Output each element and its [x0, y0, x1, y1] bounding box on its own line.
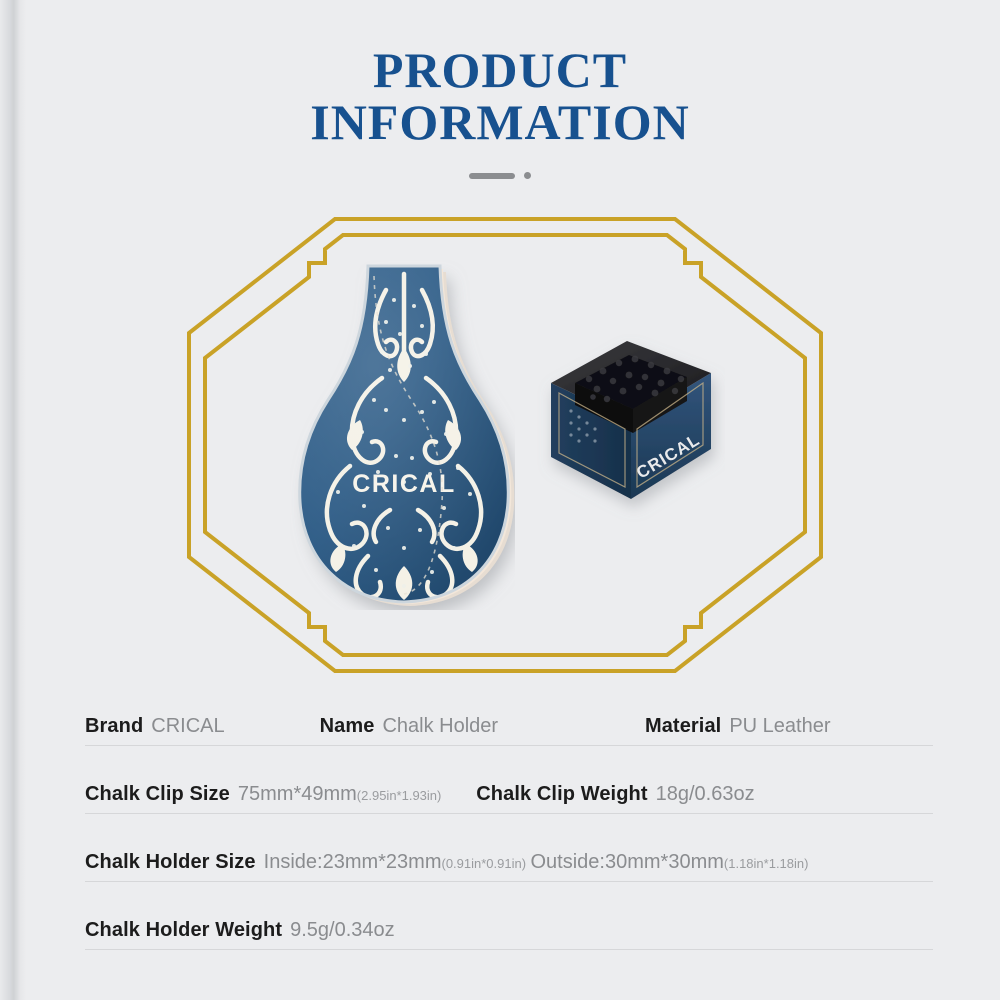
- page-title-line-2: INFORMATION: [0, 96, 1000, 148]
- spec-label: Chalk Holder Weight: [85, 919, 282, 941]
- product-chalk-holder-box: CRICAL: [535, 325, 725, 525]
- row-divider: [85, 949, 933, 950]
- table-row: Chalk Holder Weight9.5g/0.34oz: [85, 904, 933, 972]
- spec-label: Brand: [85, 715, 143, 737]
- spec-value: 9.5g/0.34oz: [290, 919, 395, 941]
- dot-icon: [524, 172, 531, 179]
- spec-value: PU Leather: [729, 715, 830, 737]
- product-spec-table: BrandCRICAL NameChalk Holder MaterialPU …: [85, 700, 933, 972]
- spec-label: Material: [645, 715, 721, 737]
- product-images: CRICAL: [185, 215, 825, 675]
- spec-value-outside-imperial: (1.18in*1.18in): [724, 856, 809, 871]
- spec-label: Chalk Clip Size: [85, 783, 230, 805]
- row-divider: [85, 745, 933, 746]
- pagination-dash-dot-icon: [0, 172, 1000, 179]
- product-chalk-clip: CRICAL: [290, 260, 515, 610]
- spec-value-inside-imperial: (0.91in*0.91in): [441, 856, 526, 871]
- spec-value: CRICAL: [151, 715, 224, 737]
- spec-cell-chalk-clip-size: Chalk Clip Size75mm*49mm(2.95in*1.93in): [85, 783, 441, 806]
- row-divider: [85, 813, 933, 814]
- row-divider: [85, 881, 933, 882]
- product-showcase: CRICAL: [185, 215, 825, 675]
- table-row: BrandCRICAL NameChalk Holder MaterialPU …: [85, 700, 933, 768]
- dash-icon: [469, 173, 515, 179]
- spec-cell-chalk-clip-weight: Chalk Clip Weight18g/0.63oz: [476, 783, 754, 806]
- page-title: PRODUCT INFORMATION: [0, 44, 1000, 148]
- spec-value: 75mm*49mm: [238, 783, 357, 805]
- spec-cell-name: NameChalk Holder: [320, 715, 498, 738]
- table-row: Chalk Clip Size75mm*49mm(2.95in*1.93in) …: [85, 768, 933, 836]
- spec-label: Chalk Holder Size: [85, 851, 256, 873]
- spec-value: 18g/0.63oz: [656, 783, 755, 805]
- spec-cell-chalk-holder-size-outside: Outside:30mm*30mm(1.18in*1.18in): [531, 851, 809, 874]
- spec-cell-chalk-holder-weight: Chalk Holder Weight9.5g/0.34oz: [85, 919, 395, 942]
- product-information-page: PRODUCT INFORMATION: [0, 0, 1000, 1000]
- spec-cell-brand: BrandCRICAL: [85, 715, 225, 738]
- page-title-line-1: PRODUCT: [0, 44, 1000, 96]
- spec-value: Chalk Holder: [382, 715, 498, 737]
- spec-value-inside: Inside:23mm*23mm: [264, 851, 442, 873]
- spec-value-outside: Outside:30mm*30mm: [531, 851, 724, 873]
- spec-cell-material: MaterialPU Leather: [645, 715, 831, 738]
- spec-value-imperial: (2.95in*1.93in): [357, 788, 442, 803]
- table-row: Chalk Holder SizeInside:23mm*23mm(0.91in…: [85, 836, 933, 904]
- spec-label: Chalk Clip Weight: [476, 783, 647, 805]
- spec-label: Name: [320, 715, 375, 737]
- spec-cell-chalk-holder-size: Chalk Holder SizeInside:23mm*23mm(0.91in…: [85, 851, 526, 874]
